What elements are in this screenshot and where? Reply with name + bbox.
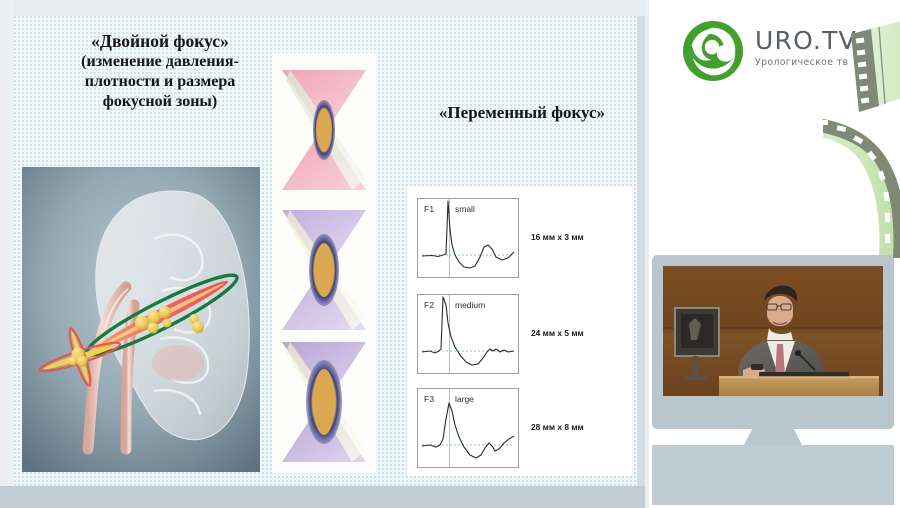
focus-waveform-f1	[418, 199, 518, 277]
slide-title-left: «Двойной фокус» (изменение давления- пло…	[20, 30, 300, 113]
focus-card-f1: F1 small	[417, 198, 519, 278]
focus-card-f3: F3 large	[417, 388, 519, 468]
focus-card-f2: F2 medium	[417, 294, 519, 374]
slide-title-left-line-2: (изменение давления-	[20, 52, 300, 72]
slide-title-left-line-3: плотности и размера	[20, 72, 300, 92]
kidney-focal-zones-illustration	[22, 167, 260, 472]
slide-viewer: «Двойной фокус» (изменение давления- пло…	[0, 0, 645, 508]
sidebar-left-edge	[645, 0, 649, 508]
hourglass-focus-2	[276, 206, 372, 334]
slide-frame-bottom-edge	[0, 486, 645, 508]
film-strip-icon	[823, 0, 900, 261]
focus-dimensions-f2: 24 мм х 5 мм	[531, 328, 584, 338]
kidney-diagram-svg	[22, 167, 260, 472]
film-strip-upper	[851, 10, 900, 112]
slide-title-right: «Переменный фокус»	[402, 102, 637, 123]
sidebar-panel: URO.TV Урологическое тв	[645, 0, 900, 508]
slide-title-left-line-4: фокусной зоны)	[20, 92, 300, 112]
focus-dimensions-f1: 16 мм х 3 мм	[531, 232, 584, 242]
focus-waveform-f2	[418, 295, 518, 373]
speaker-video-frame	[663, 266, 883, 396]
hourglass-focus-3	[276, 338, 372, 466]
conference-speaker-video[interactable]	[663, 266, 883, 396]
video-player-monitor[interactable]	[652, 255, 894, 463]
focus-dimensions-f3: 28 мм х 8 мм	[531, 422, 584, 432]
monitor-bezel	[652, 255, 894, 429]
focus-waveform-panel: F1 small 16 мм х 3 мм F2 medium	[407, 186, 632, 476]
slide-title-left-line-1: «Двойной фокус»	[20, 30, 300, 52]
uro-tv-aperture-logo-icon	[682, 20, 744, 82]
monitor-base	[652, 445, 894, 505]
hourglass-focus-1	[276, 66, 372, 194]
monitor-stand	[744, 429, 802, 445]
presentation-slide: «Двойной фокус» (изменение давления- пло…	[14, 16, 637, 486]
focal-zone-hourglass-diagram	[272, 53, 376, 473]
screenshot-root: «Двойной фокус» (изменение давления- пло…	[0, 0, 900, 508]
slide-frame-left-edge	[0, 0, 14, 495]
focus-waveform-f3	[418, 389, 518, 467]
film-strip-lower	[823, 116, 900, 258]
slide-frame-top-edge	[0, 0, 645, 16]
